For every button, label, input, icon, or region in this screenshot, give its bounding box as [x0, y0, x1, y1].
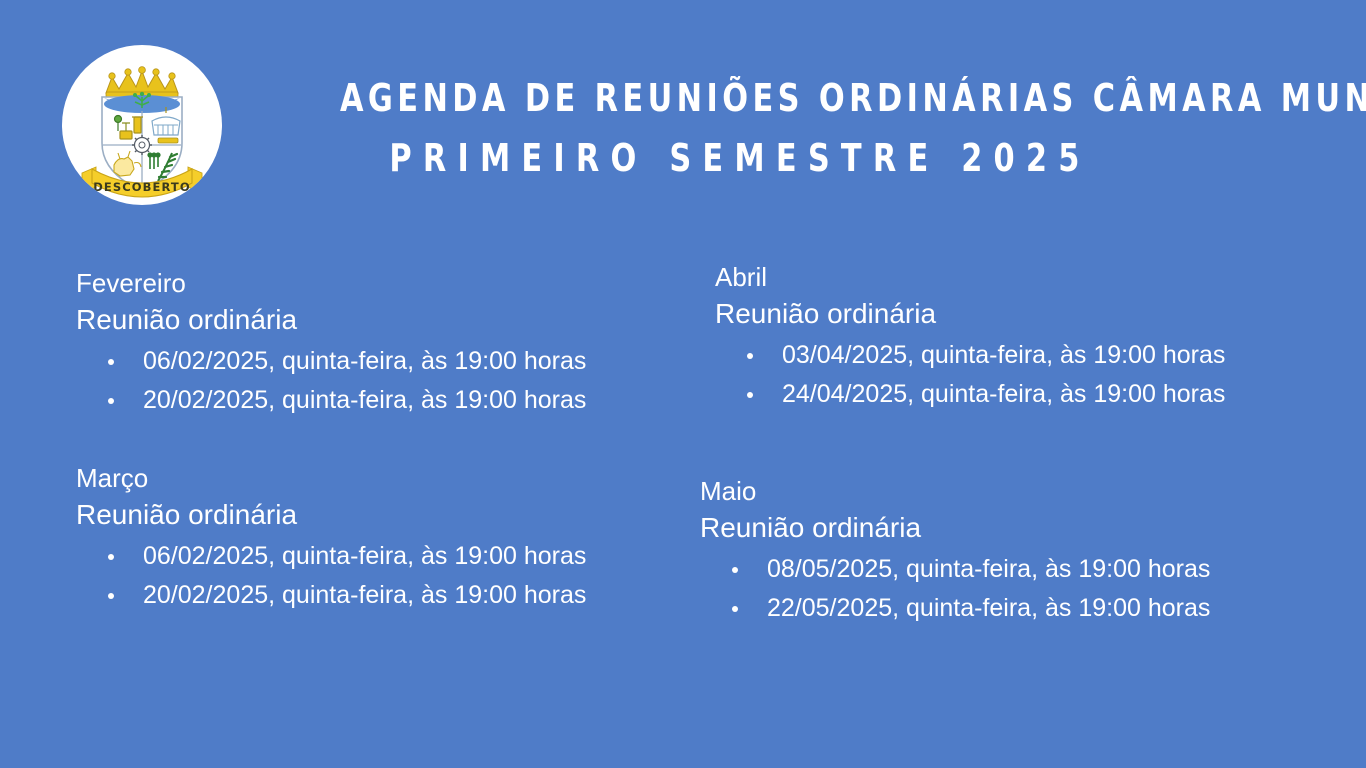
list-item: 24/04/2025, quinta-feira, às 19:00 horas: [715, 375, 1225, 414]
list-item: 20/02/2025, quinta-feira, às 19:00 horas: [76, 576, 586, 615]
bullet-icon: [732, 567, 738, 573]
bullet-icon: [108, 359, 114, 365]
bullet-icon: [747, 353, 753, 359]
date-text: 20/02/2025, quinta-feira, às 19:00 horas: [143, 581, 586, 609]
date-text: 06/02/2025, quinta-feira, às 19:00 horas: [143, 347, 586, 375]
month-block-fevereiro: Fevereiro Reunião ordinária 06/02/2025, …: [76, 266, 586, 420]
month-block-marco: Março Reunião ordinária 06/02/2025, quin…: [76, 461, 586, 615]
bullet-icon: [747, 392, 753, 398]
bullet-icon: [108, 593, 114, 599]
list-item: 06/02/2025, quinta-feira, às 19:00 horas: [76, 537, 586, 576]
meeting-type: Reunião ordinária: [76, 495, 586, 535]
month-block-abril: Abril Reunião ordinária 03/04/2025, quin…: [715, 260, 1225, 414]
month-name: Fevereiro: [76, 266, 586, 300]
date-list: 03/04/2025, quinta-feira, às 19:00 horas…: [715, 336, 1225, 414]
date-text: 03/04/2025, quinta-feira, às 19:00 horas: [782, 341, 1225, 369]
date-list: 06/02/2025, quinta-feira, às 19:00 horas…: [76, 342, 586, 420]
bullet-icon: [108, 554, 114, 560]
date-list: 08/05/2025, quinta-feira, às 19:00 horas…: [700, 550, 1210, 628]
bullet-icon: [108, 398, 114, 404]
meeting-type: Reunião ordinária: [700, 508, 1210, 548]
date-text: 24/04/2025, quinta-feira, às 19:00 horas: [782, 380, 1225, 408]
schedule-content: Fevereiro Reunião ordinária 06/02/2025, …: [0, 0, 1366, 768]
date-text: 22/05/2025, quinta-feira, às 19:00 horas: [767, 594, 1210, 622]
list-item: 22/05/2025, quinta-feira, às 19:00 horas: [700, 589, 1210, 628]
month-block-maio: Maio Reunião ordinária 08/05/2025, quint…: [700, 474, 1210, 628]
list-item: 08/05/2025, quinta-feira, às 19:00 horas: [700, 550, 1210, 589]
meeting-type: Reunião ordinária: [715, 294, 1225, 334]
list-item: 03/04/2025, quinta-feira, às 19:00 horas: [715, 336, 1225, 375]
date-text: 20/02/2025, quinta-feira, às 19:00 horas: [143, 386, 586, 414]
date-list: 06/02/2025, quinta-feira, às 19:00 horas…: [76, 537, 586, 615]
date-text: 08/05/2025, quinta-feira, às 19:00 horas: [767, 555, 1210, 583]
list-item: 06/02/2025, quinta-feira, às 19:00 horas: [76, 342, 586, 381]
date-text: 06/02/2025, quinta-feira, às 19:00 horas: [143, 542, 586, 570]
meeting-type: Reunião ordinária: [76, 300, 586, 340]
bullet-icon: [732, 606, 738, 612]
month-name: Maio: [700, 474, 1210, 508]
month-name: Abril: [715, 260, 1225, 294]
list-item: 20/02/2025, quinta-feira, às 19:00 horas: [76, 381, 586, 420]
month-name: Março: [76, 461, 586, 495]
